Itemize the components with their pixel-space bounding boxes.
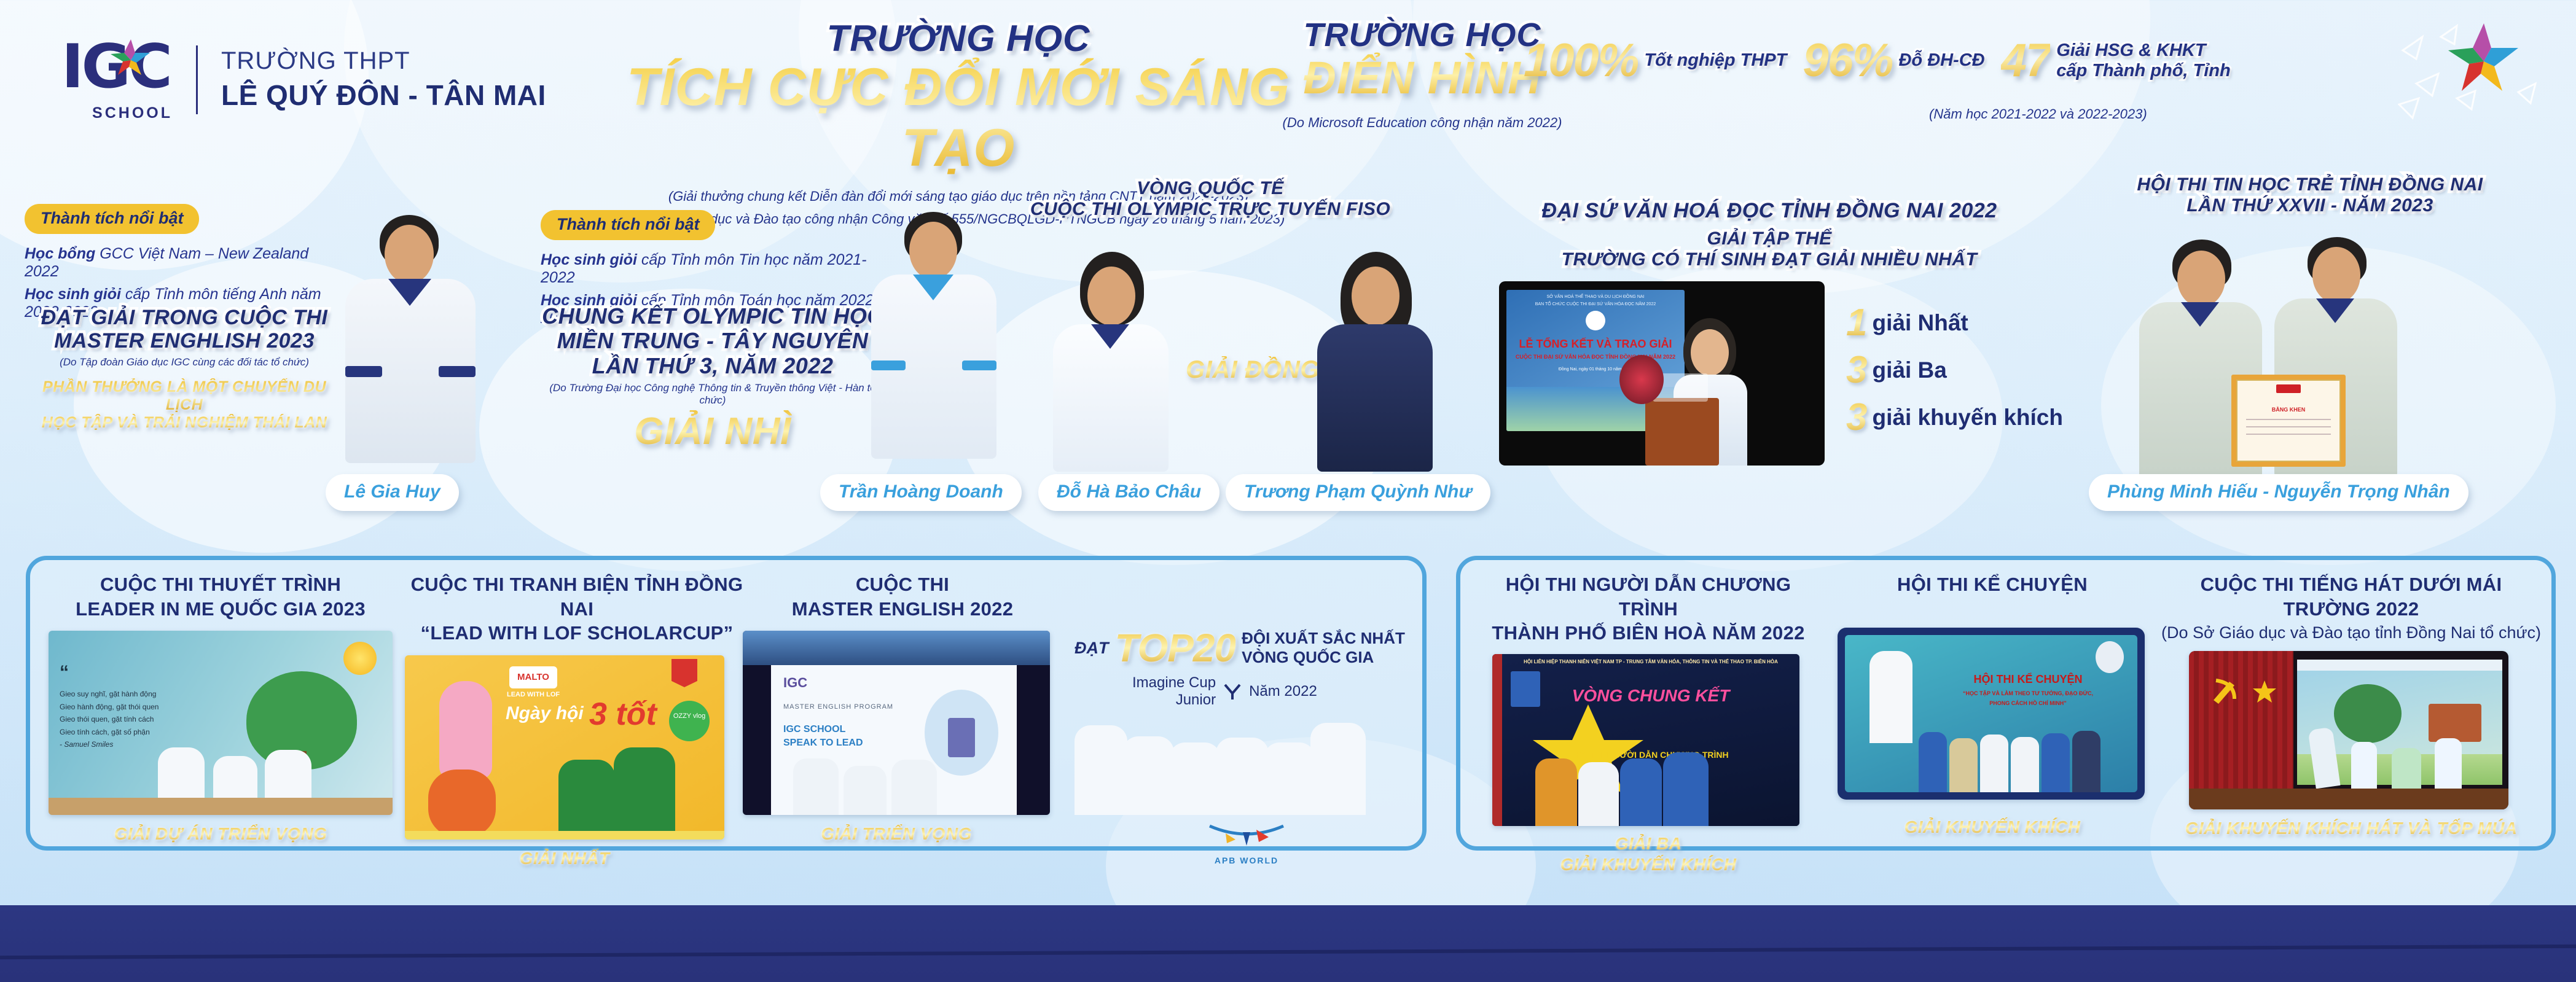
face bbox=[2177, 251, 2225, 307]
top20-side: ĐỘI XUẤT SẮC NHẤT VÒNG QUỐC GIA bbox=[1242, 629, 1405, 667]
fiso-title-line1: VÒNG QUỐC TẾ bbox=[1008, 178, 1413, 199]
achiever-1-text: Thành tích nổi bật Học bổng GCC Việt Nam… bbox=[25, 204, 344, 321]
left-card-1-title-line1: CUỘC THI THUYẾT TRÌNH bbox=[49, 572, 393, 597]
reading-ambassador-title: ĐẠI SỨ VĂN HOÁ ĐỌC TỈNH ĐỒNG NAI 2022 bbox=[1499, 199, 2040, 222]
right-card-2[interactable]: HỘI THI KỂ CHUYỆN HỘI THI KỂ CHUYỆN “HỌC… bbox=[1826, 572, 2158, 837]
speaker-figure-1 bbox=[793, 758, 839, 815]
person-orange bbox=[1535, 758, 1577, 826]
storyteller-4 bbox=[2011, 737, 2039, 792]
achiever-1-title-line1: ĐẠT GIẢI TRONG CUỘC THI bbox=[37, 306, 332, 329]
stat-university-label: Đỗ ĐH-CĐ bbox=[1898, 50, 1984, 70]
quote-mark-icon: “ bbox=[60, 662, 69, 682]
hammer-sickle-icon bbox=[2210, 677, 2241, 705]
award-count-1: 1 giải Nhất bbox=[1846, 301, 2063, 345]
right-card-3-title-line1: CUỘC THI TIẾNG HÁT DƯỚI MÁI TRƯỜNG 2022 bbox=[2161, 572, 2542, 621]
certificate-inner: BẰNG KHEN bbox=[2236, 380, 2341, 462]
screen-inner: HỘI THI KỂ CHUYỆN “HỌC TẬP VÀ LÀM THEO T… bbox=[1845, 635, 2137, 792]
uniform bbox=[1317, 324, 1433, 472]
headline-second-note: (Do Microsoft Education công nhận năm 20… bbox=[1213, 112, 1631, 133]
achiever-1-org: (Do Tập đoàn Giáo dục IGC cùng các đối t… bbox=[37, 356, 332, 368]
it-youth-title-line1: HỘI THI TIN HỌC TRẺ TỈNH ĐỒNG NAI bbox=[2070, 174, 2550, 195]
face bbox=[2312, 247, 2360, 303]
achiever-1-award: ĐẠT GIẢI TRONG CUỘC THI MASTER ENGHLISH … bbox=[37, 306, 332, 431]
speaker-figure-2 bbox=[844, 766, 887, 815]
achiever-1-name: Lê Gia Huy bbox=[326, 474, 459, 511]
panel-left: CUỘC THI THUYẾT TRÌNH LEADER IN ME QUỐC … bbox=[26, 556, 1427, 851]
achiever-2-award: CHUNG KẾT OLYMPIC TIN HỌC MIỀN TRUNG - T… bbox=[541, 304, 885, 453]
top20-team-photo bbox=[1075, 712, 1419, 815]
stage-curtain bbox=[1492, 654, 1502, 826]
top20-year: Năm 2022 bbox=[1249, 683, 1317, 700]
storyteller-6 bbox=[2072, 731, 2100, 792]
led-wall: HỘI LIÊN HIỆP THANH NIÊN VIỆT NAM TP - T… bbox=[1502, 654, 1799, 826]
left-card-3-title-line2: MASTER ENGLISH 2022 bbox=[743, 597, 1062, 622]
it-youth-title: HỘI THI TIN HỌC TRẺ TỈNH ĐỒNG NAI LẦN TH… bbox=[2070, 174, 2550, 216]
banner-org: SỞ VĂN HOÁ THỂ THAO VÀ DU LỊCH ĐỒNG NAI bbox=[1506, 295, 1685, 299]
backdrop-tree bbox=[2334, 684, 2402, 743]
stage-edge bbox=[405, 831, 724, 840]
red-curtain bbox=[2189, 651, 2293, 809]
team-member-4 bbox=[1216, 738, 1269, 815]
certificate-line-3 bbox=[2246, 434, 2331, 435]
banner-headline: LỄ TỔNG KẾT VÀ TRAO GIẢI bbox=[1506, 338, 1685, 351]
stat-prizes-number: 47 bbox=[2001, 34, 2051, 87]
stat-university-number: 96% bbox=[1803, 34, 1892, 87]
uncle-ho-figure bbox=[1869, 651, 1912, 743]
reading-ambassador-photo: SỞ VĂN HOÁ THỂ THAO VÀ DU LỊCH ĐỒNG NAI … bbox=[1499, 281, 1825, 466]
award-count-3-text: giải khuyến khích bbox=[1872, 405, 2062, 431]
it-youth-name-badge: Phùng Minh Hiếu - Nguyễn Trọng Nhân bbox=[2089, 474, 2468, 511]
fiso-student-2-photo bbox=[1309, 252, 1441, 473]
emblem-icon bbox=[2096, 641, 2124, 673]
right-card-1-title-line1: HỘI THI NGƯỜI DẪN CHƯƠNG TRÌNH bbox=[1476, 572, 1820, 621]
student-figure-green-2 bbox=[614, 747, 675, 840]
achiever-1-title-line2: MASTER ENGHLISH 2023 bbox=[37, 329, 332, 353]
student-figure-green-1 bbox=[558, 760, 615, 840]
person-white bbox=[1578, 762, 1619, 826]
left-card-2[interactable]: CUỘC THI TRANH BIỆN TỈNH ĐỒNG NAI “LEAD … bbox=[405, 572, 749, 869]
right-card-1-award-line2: GIẢI KHUYẾN KHÍCH bbox=[1476, 854, 1820, 875]
achiever-1-prize-line1: PHẦN THƯỞNG LÀ MỘT CHUYẾN DU LỊCH bbox=[37, 378, 332, 414]
left-card-2-brand: LEAD WITH LOF bbox=[507, 691, 560, 698]
fiso-student-1-photo bbox=[1044, 252, 1176, 473]
right-card-2-img-sub1: “HỌC TẬP VÀ LÀM THEO TƯ TƯỞNG, ĐẠO ĐỨC, bbox=[1925, 690, 2131, 696]
achiever-2-line-1: Học sinh giỏi cấp Tỉnh môn Tin học năm 2… bbox=[541, 251, 885, 287]
dancer-2 bbox=[2351, 742, 2377, 790]
achiever-1-line-1-bold: Học bổng bbox=[25, 245, 95, 262]
achiever-1-prize-line2: HỌC TẬP VÀ TRẢI NGHIỆM THÁI LAN bbox=[37, 414, 332, 432]
right-card-3[interactable]: CUỘC THI TIẾNG HÁT DƯỚI MÁI TRƯỜNG 2022 … bbox=[2161, 572, 2542, 839]
right-card-2-award-line1: GIẢI KHUYẾN KHÍCH bbox=[1826, 817, 2158, 838]
ceiling-light bbox=[743, 631, 1050, 665]
achiever-1-tag: Thành tích nổi bật bbox=[25, 204, 199, 234]
podium bbox=[1645, 398, 1719, 466]
achiever-1-name-badge: Lê Gia Huy bbox=[326, 474, 459, 511]
dancer-4 bbox=[2435, 738, 2462, 789]
screen-building-icon bbox=[948, 718, 975, 757]
award-count-2-number: 3 bbox=[1846, 348, 1867, 392]
achiever-2-tag: Thành tích nổi bật bbox=[541, 210, 715, 240]
reading-ambassador-subtitle-line1: GIẢI TẬP THỂ bbox=[1499, 228, 2040, 249]
flag-icon bbox=[671, 659, 697, 687]
stats-group: 100% Tốt nghiệp THPT 96% Đỗ ĐH-CĐ 47 Giả… bbox=[1524, 34, 2231, 87]
achiever-2-photo bbox=[860, 212, 1008, 476]
left-card-3-title-line1: CUỘC THI bbox=[743, 572, 1062, 597]
top20-number: TOP20 bbox=[1115, 625, 1236, 671]
left-card-2-image: MALTO LEAD WITH LOF Ngày hội 3 tốt OZZY … bbox=[405, 655, 724, 840]
award-count-2-text: giải Ba bbox=[1872, 357, 1946, 383]
top20-side-line1: ĐỘI XUẤT SẮC NHẤT bbox=[1242, 629, 1405, 647]
left-card-3-image: IGC MASTER ENGLISH PROGRAM IGC SCHOOL SP… bbox=[743, 631, 1050, 815]
left-card-2-title-line1: CUỘC THI TRANH BIỆN TỈNH ĐỒNG NAI bbox=[405, 572, 749, 621]
storyteller-1 bbox=[1919, 732, 1947, 792]
fiso-name-badge-2: Trương Phạm Quỳnh Như bbox=[1226, 474, 1490, 511]
panel-right: HỘI THI NGƯỜI DẪN CHƯƠNG TRÌNH THÀNH PHỐ… bbox=[1456, 556, 2556, 851]
right-card-2-img-main: HỘI THI KỂ CHUYỆN bbox=[1925, 673, 2131, 686]
face bbox=[1087, 267, 1135, 325]
school-name-line1: TRƯỜNG THPT bbox=[221, 47, 546, 75]
star-icon bbox=[109, 38, 152, 81]
team-member-2 bbox=[1122, 736, 1174, 815]
top20-dat: ĐẠT bbox=[1075, 639, 1109, 658]
stat-graduation-number: 100% bbox=[1524, 34, 1638, 87]
stat-prizes-label: Giải HSG & KHKT cấp Thành phố, Tỉnh bbox=[2056, 41, 2231, 80]
right-card-1-img-header: HỘI LIÊN HIỆP THANH NIÊN VIỆT NAM TP - T… bbox=[1502, 659, 1799, 664]
left-card-2-badge: MALTO bbox=[509, 666, 557, 688]
storyteller-3 bbox=[1980, 735, 2008, 792]
left-card-1-quote: “ Gieo suy nghĩ, gặt hành động Gieo hành… bbox=[60, 657, 238, 750]
certificate-line-2 bbox=[2246, 426, 2331, 427]
achiever-2-line-1-bold: Học sinh giỏi bbox=[541, 251, 637, 268]
screen-line1: IGC SCHOOL bbox=[783, 724, 845, 735]
banner-logo-icon bbox=[1586, 311, 1605, 330]
star-cluster-icon bbox=[2398, 12, 2539, 135]
achiever-1-line-2-bold: Học sinh giỏi bbox=[25, 286, 121, 303]
reading-ambassador-subtitle-line2: TRƯỜNG CÓ THÍ SINH ĐẠT GIẢI NHIỀU NHẤT bbox=[1499, 249, 2040, 270]
fiso-name-1: Đỗ Hà Bảo Châu bbox=[1038, 474, 1219, 511]
backdrop-house bbox=[2429, 704, 2481, 742]
stat-university: 96% Đỗ ĐH-CĐ bbox=[1803, 34, 1984, 87]
screen-program: MASTER ENGLISH PROGRAM bbox=[783, 703, 893, 711]
presentation-screen: IGC MASTER ENGLISH PROGRAM IGC SCHOOL SP… bbox=[771, 665, 1017, 815]
award-count-3-number: 3 bbox=[1846, 396, 1867, 439]
stat-graduation-label: Tốt nghiệp THPT bbox=[1644, 50, 1787, 70]
stat-graduation: 100% Tốt nghiệp THPT bbox=[1524, 34, 1787, 87]
top20-side-line2: VÒNG QUỐC GIA bbox=[1242, 648, 1374, 666]
face bbox=[385, 225, 434, 284]
headline-main-big: TÍCH CỰC ĐỔI MỚI SÁNG TẠO bbox=[621, 57, 1296, 179]
left-card-1-title-line2: LEADER IN ME QUỐC GIA 2023 bbox=[49, 597, 393, 622]
right-card-3-title-sub: (Do Sở Giáo dục và Đào tạo tỉnh Đồng Nai… bbox=[2161, 623, 2542, 642]
apb-world-icon bbox=[1197, 821, 1296, 855]
achievers-section: Thành tích nổi bật Học bổng GCC Việt Nam… bbox=[0, 184, 2576, 534]
quote-line-3: Gieo thói quen, gặt tính cách bbox=[60, 715, 154, 723]
award-count-3: 3 giải khuyến khích bbox=[1846, 396, 2063, 439]
achiever-2-prize: GIẢI NHÌ bbox=[541, 410, 885, 453]
achiever-1-photo bbox=[332, 215, 485, 479]
reading-ambassador-titles: ĐẠI SỨ VĂN HOÁ ĐỌC TỈNH ĐỒNG NAI 2022 GI… bbox=[1499, 199, 2040, 270]
quote-author: - Samuel Smiles bbox=[60, 740, 113, 749]
it-youth-name: Phùng Minh Hiếu - Nguyễn Trọng Nhân bbox=[2089, 474, 2468, 511]
reading-ambassador-award-list: 1 giải Nhất 3 giải Ba 3 giải khuyến khíc… bbox=[1846, 301, 2063, 443]
sun-icon bbox=[343, 642, 377, 675]
right-card-2-img-sub2: PHONG CÁCH HỒ CHÍ MINH” bbox=[1925, 700, 2131, 706]
right-card-1-title-line2: THÀNH PHỐ BIÊN HOÀ NĂM 2022 bbox=[1476, 621, 1820, 645]
achiever-2-org: (Do Trường Đại học Công nghệ Thông tin &… bbox=[541, 382, 885, 407]
award-count-1-text: giải Nhất bbox=[1872, 310, 1968, 336]
headline-main-small: TRƯỜNG HỌC bbox=[621, 17, 1296, 60]
right-card-1-award-line1: GIẢI BA bbox=[1476, 833, 1820, 854]
speaker-face bbox=[1691, 329, 1729, 376]
sleeve-trim bbox=[871, 360, 906, 370]
sleeve-trim bbox=[345, 366, 382, 377]
achiever-2-name: Trần Hoàng Doanh bbox=[820, 474, 1022, 511]
team-member-1 bbox=[1075, 725, 1127, 815]
top20-footer: APB WORLD bbox=[1075, 821, 1419, 865]
left-card-3-award: GIẢI TRIỂN VỌNG bbox=[743, 824, 1050, 844]
achiever-2-title-line2: MIỀN TRUNG - TÂY NGUYÊN bbox=[541, 329, 885, 353]
speaker-figure-3 bbox=[891, 760, 937, 815]
stat-prizes: 47 Giải HSG & KHKT cấp Thành phố, Tỉnh bbox=[2001, 34, 2231, 87]
stats-note: (Năm học 2021-2022 và 2022-2023) bbox=[1929, 106, 2147, 122]
team-member-6 bbox=[1310, 723, 1366, 815]
dancer-3 bbox=[2392, 748, 2421, 791]
banner-org-2: BAN TỔ CHỨC CUỘC THI ĐẠI SỨ VĂN HÓA ĐỌC … bbox=[1506, 302, 1685, 306]
right-card-1-image: HỘI LIÊN HIỆP THANH NIÊN VIỆT NAM TP - T… bbox=[1492, 654, 1799, 826]
storyteller-5 bbox=[2042, 733, 2070, 792]
award-count-1-number: 1 bbox=[1846, 301, 1867, 345]
right-card-3-award-line1: GIẢI KHUYẾN KHÍCH HÁT VÀ TỐP MÚA bbox=[2161, 818, 2542, 839]
achiever-2-name-badge: Trần Hoàng Doanh bbox=[820, 474, 1022, 511]
quote-line-1: Gieo suy nghĩ, gặt hành động bbox=[60, 690, 156, 698]
quote-line-4: Gieo tính cách, gặt số phận bbox=[60, 728, 150, 736]
fiso-title-line2: CUỘC THI OLYMPIC TRỰC TUYẾN FISO bbox=[1008, 199, 1413, 220]
storyteller-2 bbox=[1949, 738, 1978, 792]
fiso-title: VÒNG QUỐC TẾ CUỘC THI OLYMPIC TRỰC TUYẾN… bbox=[1008, 178, 1413, 219]
left-card-2-headline: Ngày hội bbox=[506, 703, 584, 724]
achiever-2-title-line1: CHUNG KẾT OLYMPIC TIN HỌC bbox=[541, 304, 885, 329]
stage-floor bbox=[49, 798, 393, 815]
certificate-line-1 bbox=[2246, 419, 2331, 420]
brand-logo[interactable]: IGC SCHOOL TRƯỜNG THPT LÊ QUÝ ĐÔN - TÂN … bbox=[61, 37, 546, 122]
logo-divider bbox=[196, 45, 198, 114]
left-card-2-award: GIẢI NHẤT bbox=[405, 848, 724, 869]
screen-line2: SPEAK TO LEAD bbox=[783, 738, 863, 749]
flowers bbox=[1619, 355, 1664, 404]
yellow-star-icon bbox=[2252, 679, 2277, 705]
top20-imagine-cup: Imagine Cup Junior bbox=[1132, 674, 1216, 708]
left-card-1-award: GIẢI DỰ ÁN TRIỂN VỌNG bbox=[49, 824, 393, 844]
mascot-rabbit-icon bbox=[439, 681, 492, 779]
left-card-1-image: “ Gieo suy nghĩ, gặt hành động Gieo hành… bbox=[49, 631, 393, 815]
left-card-2-headline-2: 3 tốt bbox=[589, 696, 657, 733]
person-blue-1 bbox=[1620, 758, 1662, 826]
team-member-3 bbox=[1169, 742, 1221, 815]
banner-subhead: CUỘC THI ĐẠI SỨ VĂN HÓA ĐỌC TỈNH ĐỒNG NA… bbox=[1506, 354, 1685, 360]
right-card-1[interactable]: HỘI THI NGƯỜI DẪN CHƯƠNG TRÌNH THÀNH PHỐ… bbox=[1476, 572, 1820, 875]
logo-mark: IGC bbox=[61, 37, 175, 111]
achiever-1-line-1: Học bổng GCC Việt Nam – New Zealand 2022 bbox=[25, 245, 344, 281]
person-blue-2 bbox=[1663, 752, 1709, 826]
it-youth-title-line2: LẦN THỨ XXVII - NĂM 2023 bbox=[2070, 195, 2550, 216]
top20-footer-text: APB WORLD bbox=[1075, 855, 1419, 865]
mascot-fox-icon bbox=[428, 770, 496, 837]
imagine-cup-icon bbox=[1222, 681, 1243, 702]
stat-prizes-label-line1: Giải HSG & KHKT bbox=[2056, 41, 2206, 60]
certificate-crest-icon bbox=[2276, 384, 2301, 393]
face bbox=[1352, 267, 1400, 325]
face bbox=[909, 222, 957, 279]
footer-bar bbox=[0, 905, 2576, 982]
award-count-2: 3 giải Ba bbox=[1846, 348, 2063, 392]
sleeve-trim-right bbox=[962, 360, 996, 370]
screen-logo: IGC bbox=[783, 675, 807, 691]
right-card-2-title-line1: HỘI THI KỂ CHUYỆN bbox=[1826, 572, 2158, 597]
left-card-2-title-line2: “LEAD WITH LOF SCHOLARCUP” bbox=[405, 621, 749, 645]
achiever-2-title-line3: LẦN THỨ 3, NĂM 2022 bbox=[541, 354, 885, 378]
school-name-line2: LÊ QUÝ ĐÔN - TÂN MAI bbox=[221, 79, 546, 112]
top20-header: ĐẠT TOP20 ĐỘI XUẤT SẮC NHẤT VÒNG QUỐC GI… bbox=[1075, 625, 1419, 671]
fiso-prize: GIẢI ĐỒNG bbox=[1186, 356, 1320, 384]
fiso-name-badge-1: Đỗ Hà Bảo Châu bbox=[1038, 474, 1219, 511]
left-card-3[interactable]: CUỘC THI MASTER ENGLISH 2022 IGC MASTER … bbox=[743, 572, 1062, 844]
top20-group: ĐẠT TOP20 ĐỘI XUẤT SẮC NHẤT VÒNG QUỐC GI… bbox=[1075, 625, 1419, 865]
right-card-3-image bbox=[2189, 651, 2508, 809]
left-card-2-tag: OZZY vlog bbox=[669, 701, 710, 741]
backdrop-header bbox=[2297, 660, 2502, 671]
header: IGC SCHOOL TRƯỜNG THPT LÊ QUÝ ĐÔN - TÂN … bbox=[0, 0, 2576, 184]
left-card-1[interactable]: CUỘC THI THUYẾT TRÌNH LEADER IN ME QUỐC … bbox=[49, 572, 393, 844]
top20-subline: Imagine Cup Junior Năm 2022 bbox=[1132, 674, 1419, 708]
it-youth-certificate: BẰNG KHEN bbox=[2231, 375, 2346, 467]
team-member-5 bbox=[1264, 742, 1315, 815]
stage-floor-wood bbox=[2189, 789, 2508, 809]
right-card-2-image: HỘI THI KỂ CHUYỆN “HỌC TẬP VÀ LÀM THEO T… bbox=[1838, 628, 2145, 800]
fiso-name-2: Trương Phạm Quỳnh Như bbox=[1226, 474, 1490, 511]
stat-prizes-label-line2: cấp Thành phố, Tỉnh bbox=[2056, 61, 2231, 80]
quote-line-2: Gieo hành động, gặt thói quen bbox=[60, 703, 159, 711]
sleeve-trim-right bbox=[439, 366, 476, 377]
top20-sub-line2: Junior bbox=[1176, 692, 1216, 708]
top20-sub-line1: Imagine Cup bbox=[1132, 674, 1216, 691]
certificate-title: BẰNG KHEN bbox=[2237, 407, 2339, 413]
